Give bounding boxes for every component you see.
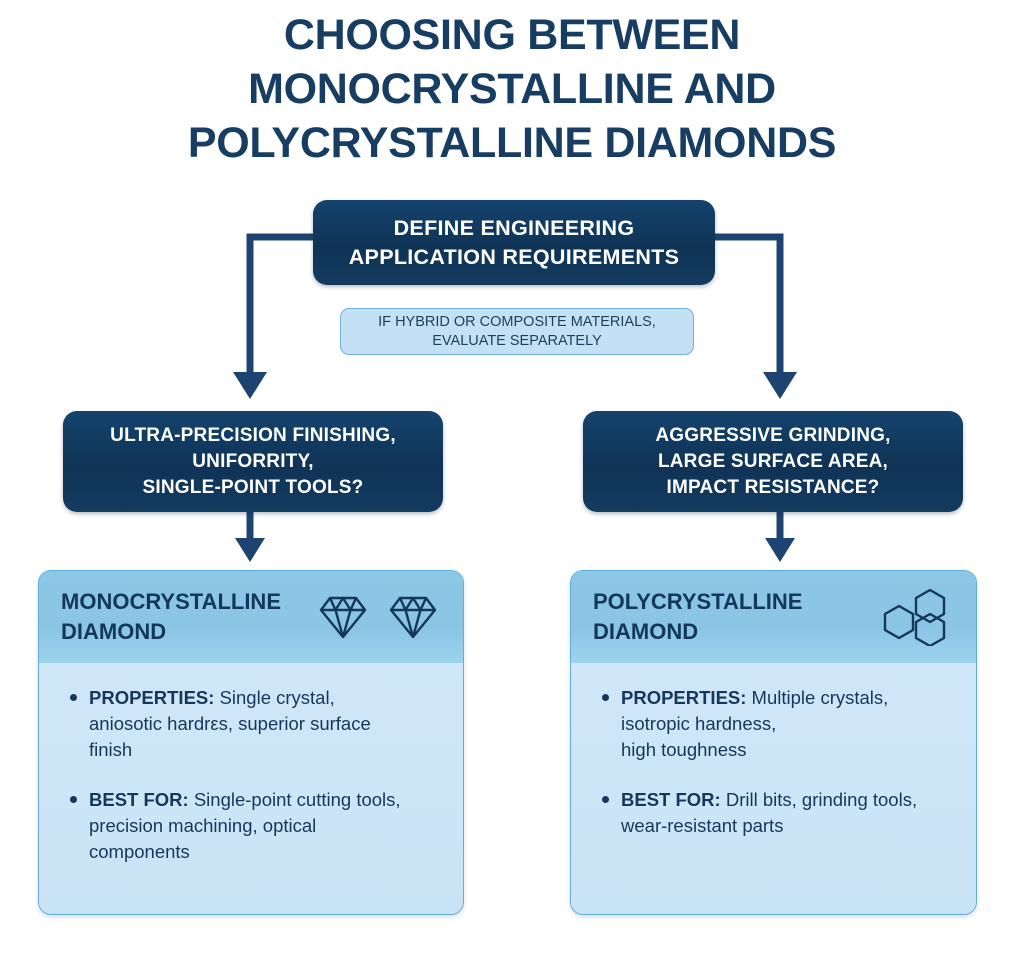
diamond-gem-icon [385, 593, 441, 641]
decision-left-line-3: SINGLE-POINT TOOLS? [110, 475, 396, 501]
diamond-gem-icon [315, 593, 371, 641]
process-box-line-1: DEFINE ENGINEERING [349, 214, 680, 243]
arrow-head-left-lower [235, 538, 265, 562]
bullet-label: BEST FOR: [621, 789, 721, 810]
list-item: PROPERTIES: Multiple crystals, isotropic… [591, 685, 956, 763]
hexagon-cluster-icon [882, 588, 954, 646]
bullet-label: PROPERTIES: [89, 687, 214, 708]
bullet-label: BEST FOR: [89, 789, 189, 810]
bullet-line-1: PROPERTIES: Single crystal, [89, 685, 443, 711]
decision-right-line-1: AGGRESSIVE GRINDING, [655, 423, 890, 449]
bullet-text-1: Single crystal, [214, 687, 334, 708]
bullet-text-2: precision machining, optical [89, 813, 443, 839]
card-left-icon-group [315, 593, 441, 641]
note-box-hybrid-materials[interactable]: IF HYBRID OR COMPOSITE MATERIALS, EVALUA… [340, 308, 694, 355]
decision-right-line-2: LARGE SURFACE AREA, [655, 449, 890, 475]
card-body-polycrystalline: PROPERTIES: Multiple crystals, isotropic… [571, 663, 976, 914]
card-title-monocrystalline: MONOCRYSTALLINE DIAMOND [61, 587, 315, 647]
bullet-text-3: finish [89, 737, 443, 763]
card-header-monocrystalline: MONOCRYSTALLINE DIAMOND [39, 571, 463, 663]
note-box-line-2: EVALUATE SEPARATELY [378, 332, 656, 351]
bullet-text-2: wear-resistant parts [621, 813, 956, 839]
card-title-polycrystalline: POLYCRYSTALLINE DIAMOND [593, 587, 882, 647]
arrow-head-left-upper [233, 372, 267, 399]
arrow-head-right-lower [765, 538, 795, 562]
bullet-dot-icon [70, 796, 77, 803]
bullet-line-1: BEST FOR: Single-point cutting tools, [89, 787, 443, 813]
bullet-text-3: components [89, 839, 443, 865]
card-right-icon-group [882, 588, 954, 646]
bullet-text-2: aniosotic hardrεs, superior surface [89, 711, 443, 737]
bullet-line-1: BEST FOR: Drill bits, grinding tools, [621, 787, 956, 813]
card-right-title-line-2: DIAMOND [593, 617, 882, 647]
list-item: BEST FOR: Drill bits, grinding tools, we… [591, 787, 956, 839]
bullet-text-3: high toughness [621, 737, 956, 763]
list-item: BEST FOR: Single-point cutting tools, pr… [59, 787, 443, 865]
decision-left-line-2: UNIFORRITY, [110, 449, 396, 475]
bullet-dot-icon [602, 796, 609, 803]
card-left-title-line-2: DIAMOND [61, 617, 315, 647]
decision-box-ultra-precision[interactable]: ULTRA-PRECISION FINISHING, UNIFORRITY, S… [63, 411, 443, 512]
flowchart-canvas: CHOOSING BETWEEN MONOCRYSTALLINE AND POL… [0, 0, 1024, 954]
bullet-text-1: Multiple crystals, [746, 687, 888, 708]
branch-line-right [715, 237, 780, 378]
note-box-line-1: IF HYBRID OR COMPOSITE MATERIALS, [378, 313, 656, 332]
result-card-polycrystalline[interactable]: POLYCRYSTALLINE DIAMOND PROPERTIES: Mult… [570, 570, 977, 915]
card-right-title-line-1: POLYCRYSTALLINE [593, 587, 882, 617]
bullet-text-2: isotropic hardness, [621, 711, 956, 737]
arrow-head-right-upper [763, 372, 797, 399]
process-box-define-requirements[interactable]: DEFINE ENGINEERING APPLICATION REQUIREME… [313, 200, 715, 285]
process-box-line-2: APPLICATION REQUIREMENTS [349, 243, 680, 272]
bullet-dot-icon [602, 694, 609, 701]
card-body-monocrystalline: PROPERTIES: Single crystal, aniosotic ha… [39, 663, 463, 914]
bullet-label: PROPERTIES: [621, 687, 746, 708]
branch-line-left [250, 237, 313, 378]
bullet-dot-icon [70, 694, 77, 701]
bullet-text-1: Drill bits, grinding tools, [721, 789, 917, 810]
result-card-monocrystalline[interactable]: MONOCRYSTALLINE DIAMOND [38, 570, 464, 915]
list-item: PROPERTIES: Single crystal, aniosotic ha… [59, 685, 443, 763]
card-left-title-line-1: MONOCRYSTALLINE [61, 587, 315, 617]
bullet-text-1: Single-point cutting tools, [189, 789, 401, 810]
decision-box-aggressive-grinding[interactable]: AGGRESSIVE GRINDING, LARGE SURFACE AREA,… [583, 411, 963, 512]
card-header-polycrystalline: POLYCRYSTALLINE DIAMOND [571, 571, 976, 663]
bullet-line-1: PROPERTIES: Multiple crystals, [621, 685, 956, 711]
decision-right-line-3: IMPACT RESISTANCE? [655, 475, 890, 501]
decision-left-line-1: ULTRA-PRECISION FINISHING, [110, 423, 396, 449]
